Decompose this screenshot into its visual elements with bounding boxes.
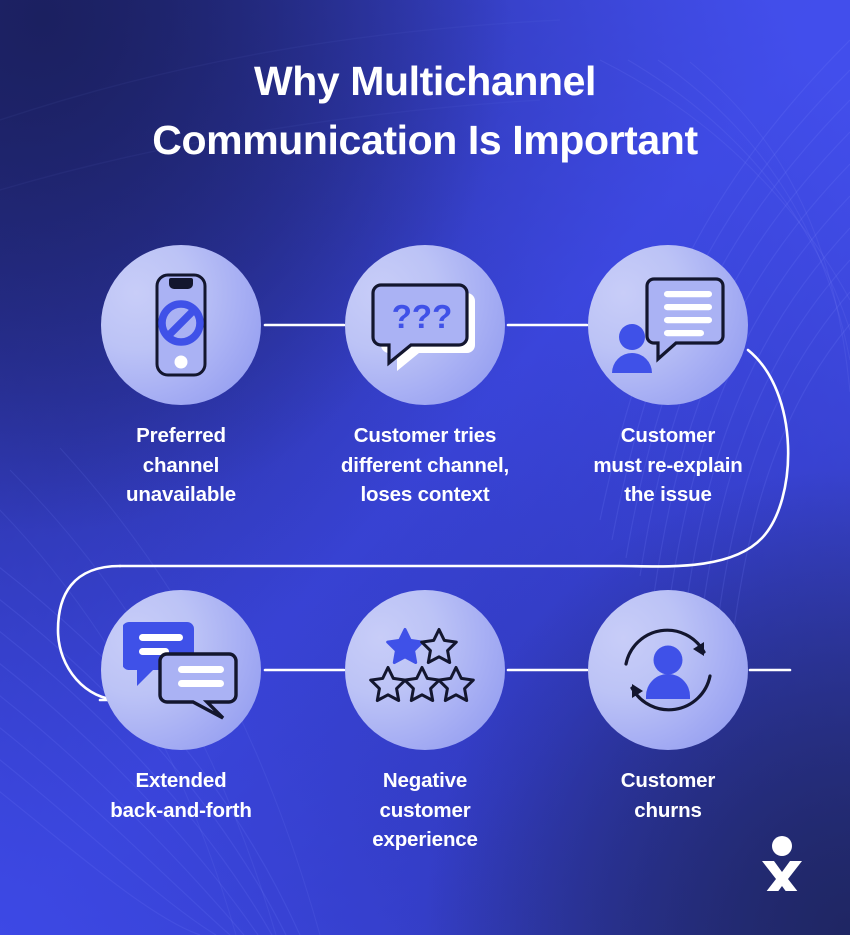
step-6-caption: Customer churns [559, 766, 777, 825]
step-3[interactable]: Customer must re-explain the issue [559, 245, 777, 510]
step-1[interactable]: Preferred channel unavailable [72, 245, 290, 510]
step-2-caption: Customer tries different channel, loses … [316, 421, 534, 510]
nextiva-logo[interactable] [758, 835, 806, 891]
step-6[interactable]: Customer churns [559, 590, 777, 825]
step-6-icon-circle [588, 590, 748, 750]
step-5[interactable]: Negative customer experience [316, 590, 534, 855]
step-3-icon-circle [588, 245, 748, 405]
step-1-caption: Preferred channel unavailable [72, 421, 290, 510]
star-empty-4 [405, 668, 440, 701]
question-marks-text: ??? [392, 298, 452, 335]
step-1-icon-circle [101, 245, 261, 405]
logo-head-circle [772, 836, 792, 856]
step-4-icon-circle [101, 590, 261, 750]
title-line-1: Why Multichannel [0, 52, 850, 111]
two-chat-bubbles-icon [101, 590, 261, 750]
step-3-caption: Customer must re-explain the issue [559, 421, 777, 510]
one-star-rating-icon [345, 590, 505, 750]
title-line-2: Communication Is Important [0, 111, 850, 170]
question-speech-bubble-icon: ??? [345, 245, 505, 405]
step-4-caption: Extended back-and-forth [72, 766, 290, 825]
star-empty-2 [422, 630, 457, 663]
logo-x-mark [762, 861, 802, 891]
customer-churn-cycle-icon [588, 590, 748, 750]
person-message-icon [588, 245, 748, 405]
phone-blocked-icon [101, 245, 261, 405]
page-title: Why Multichannel Communication Is Import… [0, 52, 850, 171]
step-4[interactable]: Extended back-and-forth [72, 590, 290, 825]
star-empty-3 [371, 668, 406, 701]
step-5-icon-circle [345, 590, 505, 750]
star-empty-5 [439, 668, 474, 701]
step-2[interactable]: ??? Customer tries different channel, lo… [316, 245, 534, 510]
step-5-caption: Negative customer experience [316, 766, 534, 855]
star-filled-1 [388, 630, 423, 663]
step-2-icon-circle: ??? [345, 245, 505, 405]
